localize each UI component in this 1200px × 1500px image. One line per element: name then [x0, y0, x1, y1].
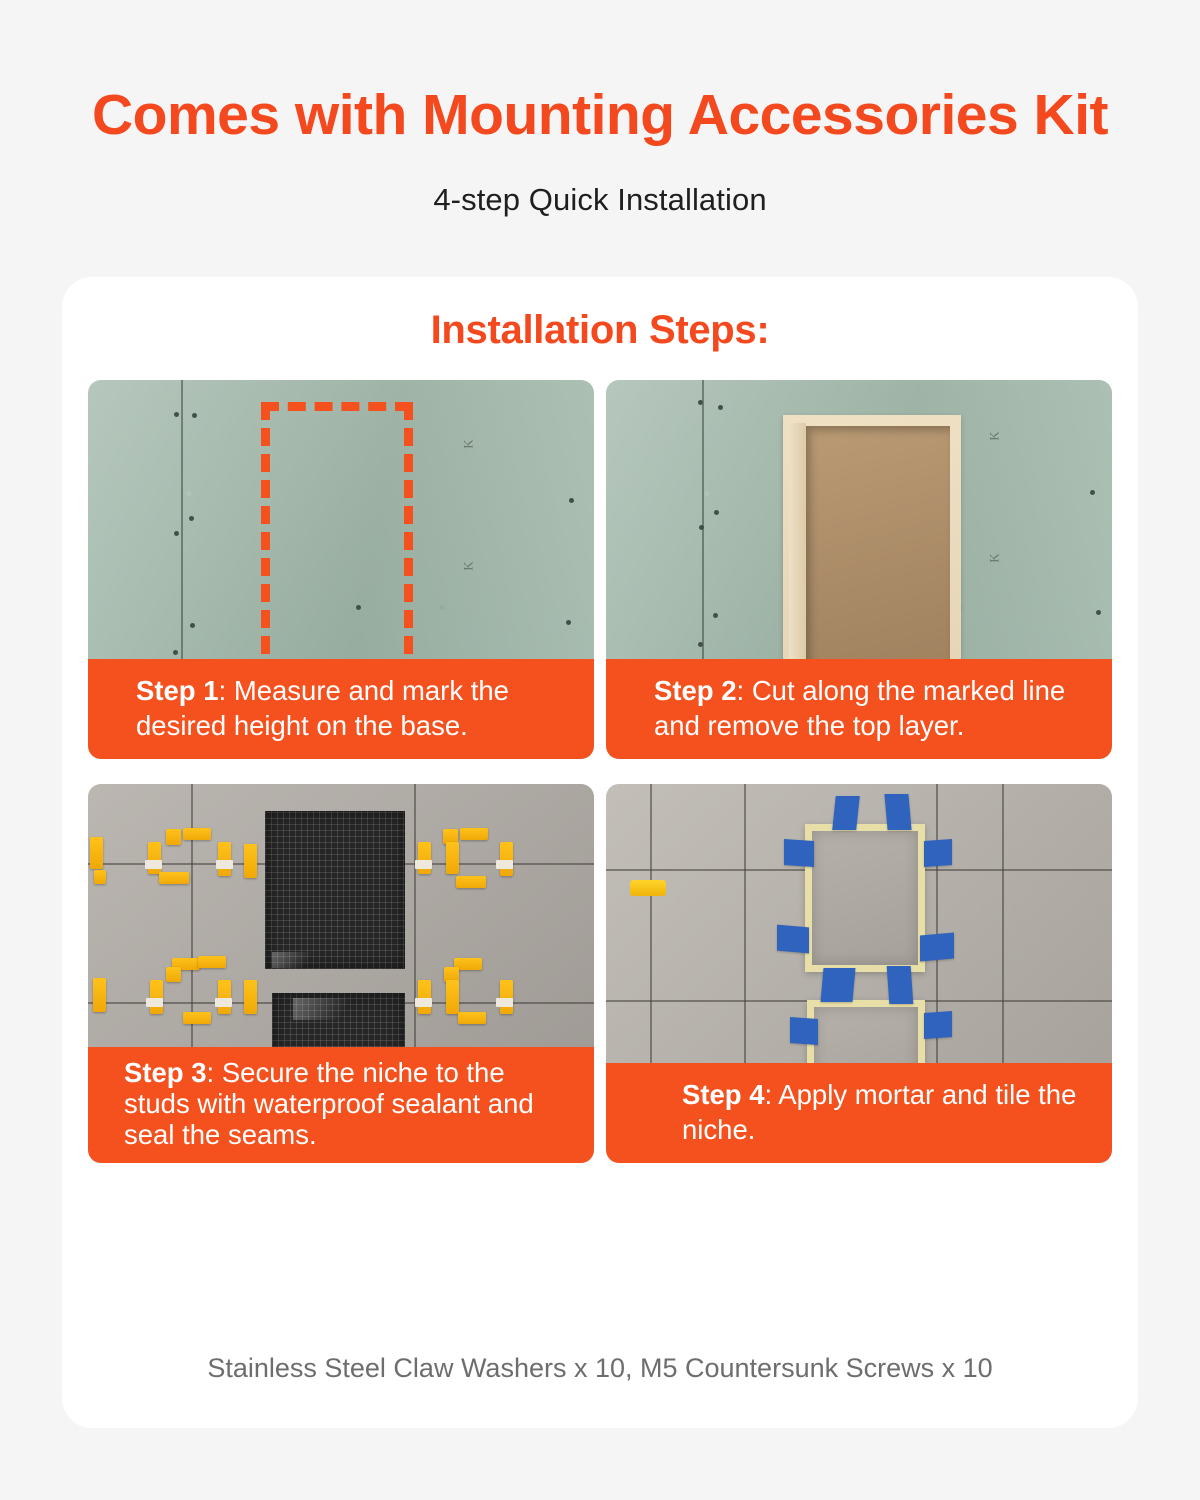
step-2-separator: :: [737, 675, 752, 706]
steps-grid: K K K Step 1: Measure and mark the desir…: [88, 380, 1112, 1163]
tile-spacer: [215, 998, 232, 1007]
tile-spacer: [496, 998, 513, 1007]
screw-dot: [718, 405, 723, 410]
levelling-wedge: [183, 828, 211, 840]
kit-contents-note: Stainless Steel Claw Washers x 10, M5 Co…: [62, 1353, 1138, 1384]
step-card-4[interactable]: Step 4: Apply mortar and tile the niche.: [606, 784, 1112, 1163]
page-title: Comes with Mounting Accessories Kit: [0, 86, 1200, 146]
mesh-highlight: [272, 952, 332, 968]
blue-tape-strip: [784, 839, 814, 867]
screw-dot: [566, 620, 571, 625]
levelling-wedge: [166, 967, 181, 982]
tile-spacer: [415, 860, 432, 869]
step-1-caption: Step 1: Measure and mark the desired hei…: [88, 659, 594, 759]
tile-spacer: [145, 860, 162, 869]
levelling-wedge: [244, 844, 257, 878]
levelling-wedge: [456, 876, 486, 888]
screw-dot: [1090, 490, 1095, 495]
screw-dot: [190, 623, 195, 628]
screw-dot: [713, 613, 718, 618]
levelling-wedge: [166, 829, 181, 845]
niche-mesh-panel: [265, 811, 405, 969]
step-4-caption: Step 4: Apply mortar and tile the niche.: [606, 1063, 1112, 1163]
levelling-wedge: [446, 842, 459, 874]
levelling-wedge: [418, 842, 431, 874]
levelling-wedge: [218, 980, 231, 1014]
levelling-wedge: [446, 980, 459, 1014]
screw-dot: [1096, 610, 1101, 615]
tile-spacer: [146, 998, 163, 1007]
step-2-caption: Step 2: Cut along the marked line and re…: [606, 659, 1112, 759]
screw-dot: [698, 400, 703, 405]
screw-dot: [174, 412, 179, 417]
k-mark: K: [461, 439, 477, 448]
k-mark: K: [987, 431, 1003, 440]
levelling-wedge: [183, 1012, 211, 1024]
header: Comes with Mounting Accessories Kit 4-st…: [0, 0, 1200, 218]
step-3-label: Step 3: [124, 1057, 207, 1088]
installation-steps-heading: Installation Steps:: [62, 277, 1138, 353]
levelling-wedge: [458, 1012, 486, 1024]
tile-spacer: [496, 860, 513, 869]
levelling-wedge: [150, 980, 163, 1014]
blue-tape-strip: [821, 968, 856, 1002]
screw-dot: [699, 525, 704, 530]
blue-tape-strip: [884, 794, 911, 830]
levelling-wedge: [93, 978, 106, 1012]
blue-tape-strip: [924, 1011, 952, 1039]
step-card-2[interactable]: K K K Step 2: Cut along the marked line …: [606, 380, 1112, 759]
blue-tape-strip: [832, 796, 860, 830]
levelling-wedge: [198, 956, 226, 968]
step-4-label: Step 4: [682, 1079, 765, 1110]
step-card-3[interactable]: Step 3: Secure the niche to the studs wi…: [88, 784, 594, 1163]
levelling-wedge: [460, 828, 488, 840]
levelling-wedge: [94, 870, 106, 884]
step-1-separator: :: [219, 675, 234, 706]
tile-spacer: [216, 860, 233, 869]
blue-tape-strip: [887, 966, 914, 1004]
step-3-caption: Step 3: Secure the niche to the studs wi…: [88, 1047, 594, 1163]
page-subtitle: 4-step Quick Installation: [0, 182, 1200, 218]
k-mark: K: [461, 561, 477, 570]
screw-dot: [698, 642, 703, 647]
levelling-wedge: [418, 980, 431, 1014]
levelling-wedge: [148, 842, 161, 874]
step-card-1[interactable]: K K K Step 1: Measure and mark the desir…: [88, 380, 594, 759]
step-2-label: Step 2: [654, 675, 737, 706]
levelling-wedge: [159, 872, 189, 884]
screw-dot: [173, 650, 178, 655]
screw-dot: [189, 516, 194, 521]
levelling-wedge: [500, 980, 513, 1014]
mesh-highlight: [293, 998, 379, 1020]
blue-tape-strip: [790, 1017, 818, 1045]
levelling-wedge: [218, 842, 231, 876]
niche-frame-top: [805, 824, 925, 972]
step-4-separator: :: [765, 1079, 779, 1110]
tile-spacer: [415, 998, 432, 1007]
levelling-wedge: [90, 837, 103, 869]
blue-tape-strip: [777, 925, 809, 954]
levelling-wedge: [500, 842, 513, 876]
screw-dot: [174, 531, 179, 536]
k-mark: K: [987, 553, 1003, 562]
step-1-label: Step 1: [136, 675, 219, 706]
infographic-page: Comes with Mounting Accessories Kit 4-st…: [0, 0, 1200, 1500]
screw-dot: [714, 510, 719, 515]
screw-dot: [569, 498, 574, 503]
blue-tape-strip: [924, 839, 952, 867]
installation-card: Installation Steps: K: [62, 277, 1138, 1428]
blue-tape-strip: [920, 933, 954, 962]
screw-dot: [192, 413, 197, 418]
levelling-wedge: [630, 880, 666, 896]
step-3-separator: :: [207, 1057, 222, 1088]
levelling-wedge: [244, 980, 257, 1014]
